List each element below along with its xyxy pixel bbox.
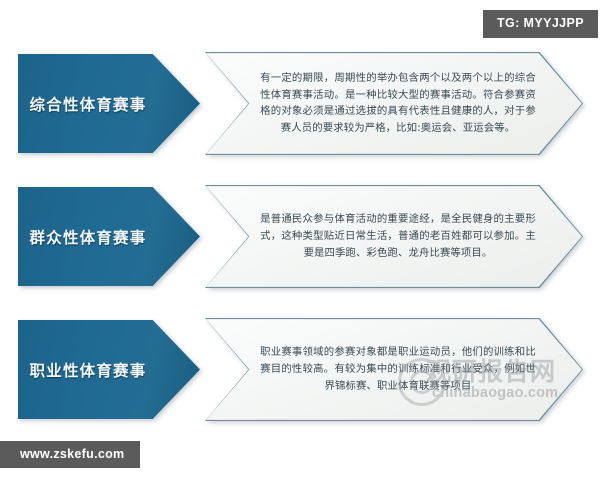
description-panel-2[interactable]: 是普通民众参与体育活动的重要途经，是全民健身的主要形式，这种类型贴近日常生活，普…: [205, 185, 583, 288]
description-panel-3[interactable]: 职业赛事领域的参赛对象都是职业运动员，他们的训练和比赛目的性较高。有较为集中的训…: [205, 318, 583, 421]
category-arrow-1[interactable]: 综合性体育赛事: [18, 54, 200, 153]
panel-body: 职业赛事领域的参赛对象都是职业运动员，他们的训练和比赛目的性较高。有较为集中的训…: [206, 319, 582, 420]
arrow-shape: 职业性体育赛事: [18, 320, 200, 419]
category-arrow-label: 群众性体育赛事: [18, 226, 158, 248]
panel-body: 是普通民众参与体育活动的重要途经，是全民健身的主要形式，这种类型贴近日常生活，普…: [206, 186, 582, 287]
footer-url-bar: www.zskefu.com: [0, 441, 140, 469]
process-row: 群众性体育赛事 是普通民众参与体育活动的重要途经，是全民健身的主要形式，这种类型…: [0, 185, 600, 288]
description-panel-1[interactable]: 有一定的期限，周期性的举办包含两个以及两个以上的综合性体育赛事活动。是一种比较大…: [205, 52, 583, 155]
panel-border: 职业赛事领域的参赛对象都是职业运动员，他们的训练和比赛目的性较高。有较为集中的训…: [205, 318, 583, 421]
category-arrow-2[interactable]: 群众性体育赛事: [18, 187, 200, 286]
arrow-shape: 综合性体育赛事: [18, 54, 200, 153]
process-arrow-list: 综合性体育赛事 有一定的期限，周期性的举办包含两个以及两个以上的综合性体育赛事活…: [0, 52, 600, 451]
panel-body: 有一定的期限，周期性的举办包含两个以及两个以上的综合性体育赛事活动。是一种比较大…: [206, 53, 582, 154]
category-arrow-label: 职业性体育赛事: [18, 359, 158, 381]
category-arrow-label: 综合性体育赛事: [18, 93, 158, 115]
category-arrow-3[interactable]: 职业性体育赛事: [18, 320, 200, 419]
process-row: 职业性体育赛事 职业赛事领域的参赛对象都是职业运动员，他们的训练和比赛目的性较高…: [0, 318, 600, 421]
panel-border: 有一定的期限，周期性的举办包含两个以及两个以上的综合性体育赛事活动。是一种比较大…: [205, 52, 583, 155]
description-text: 是普通民众参与体育活动的重要途经，是全民健身的主要形式，这种类型贴近日常生活，普…: [260, 211, 536, 262]
arrow-shape: 群众性体育赛事: [18, 187, 200, 286]
process-row: 综合性体育赛事 有一定的期限，周期性的举办包含两个以及两个以上的综合性体育赛事活…: [0, 52, 600, 155]
tg-badge: TG: MYYJJPP: [483, 10, 598, 38]
description-text: 职业赛事领域的参赛对象都是职业运动员，他们的训练和比赛目的性较高。有较为集中的训…: [260, 344, 536, 395]
description-text: 有一定的期限，周期性的举办包含两个以及两个以上的综合性体育赛事活动。是一种比较大…: [260, 70, 536, 137]
panel-border: 是普通民众参与体育活动的重要途经，是全民健身的主要形式，这种类型贴近日常生活，普…: [205, 185, 583, 288]
